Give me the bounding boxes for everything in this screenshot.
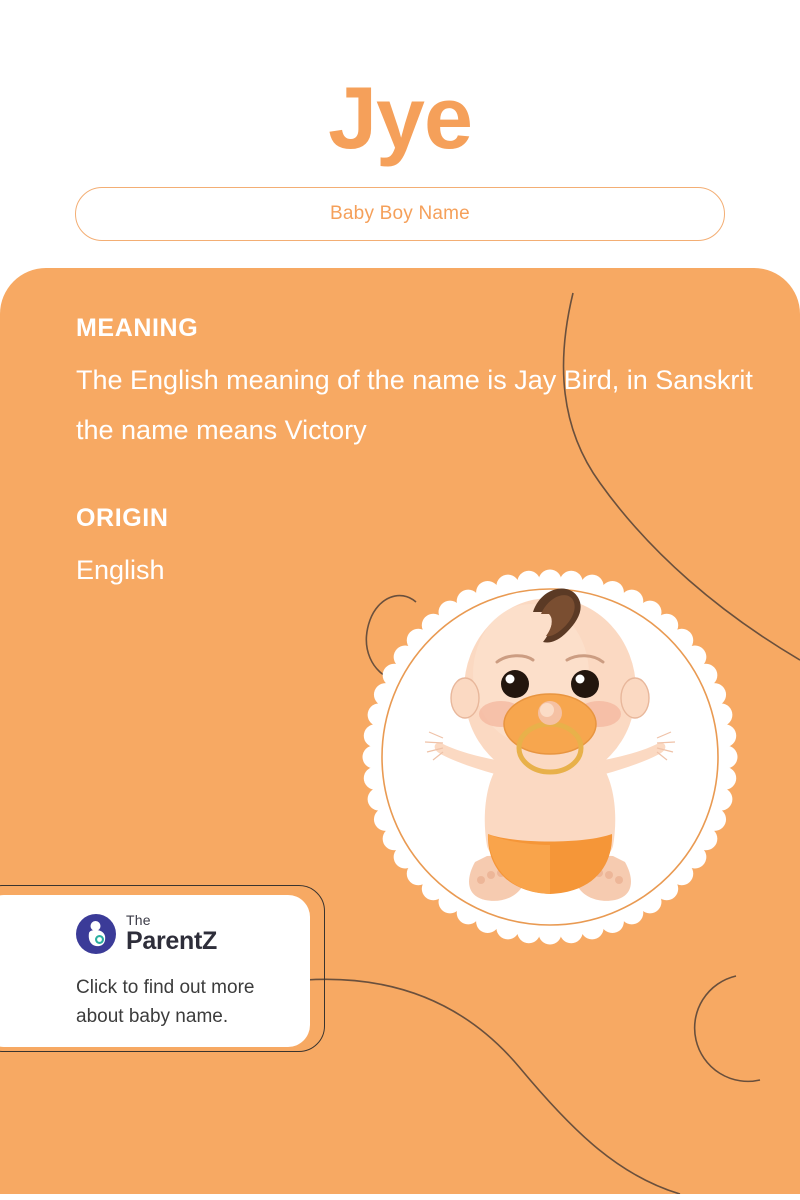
- page-title: Jye: [0, 68, 800, 168]
- meaning-text: The English meaning of the name is Jay B…: [76, 355, 756, 455]
- name-category-label: Baby Boy Name: [330, 203, 470, 225]
- brand-lockup: The ParentZ: [76, 913, 217, 954]
- baby-name-card-page: Jye Baby Boy Name MEANING The English me…: [0, 0, 800, 1200]
- brand-name: ParentZ: [126, 929, 217, 954]
- meaning-heading: MEANING: [76, 314, 756, 343]
- parentz-logo-icon: [76, 914, 116, 954]
- meaning-section: MEANING The English meaning of the name …: [76, 314, 756, 455]
- details-card: MEANING The English meaning of the name …: [0, 268, 800, 1194]
- cta-card[interactable]: The ParentZ Click to find out more about…: [0, 895, 310, 1047]
- name-category-pill: Baby Boy Name: [75, 187, 725, 241]
- brand-prefix: The: [126, 913, 217, 927]
- cta-description: Click to find out more about baby name.: [76, 973, 301, 1031]
- origin-heading: ORIGIN: [76, 504, 476, 533]
- brand-text: The ParentZ: [126, 913, 217, 954]
- baby-illustration: [355, 562, 745, 952]
